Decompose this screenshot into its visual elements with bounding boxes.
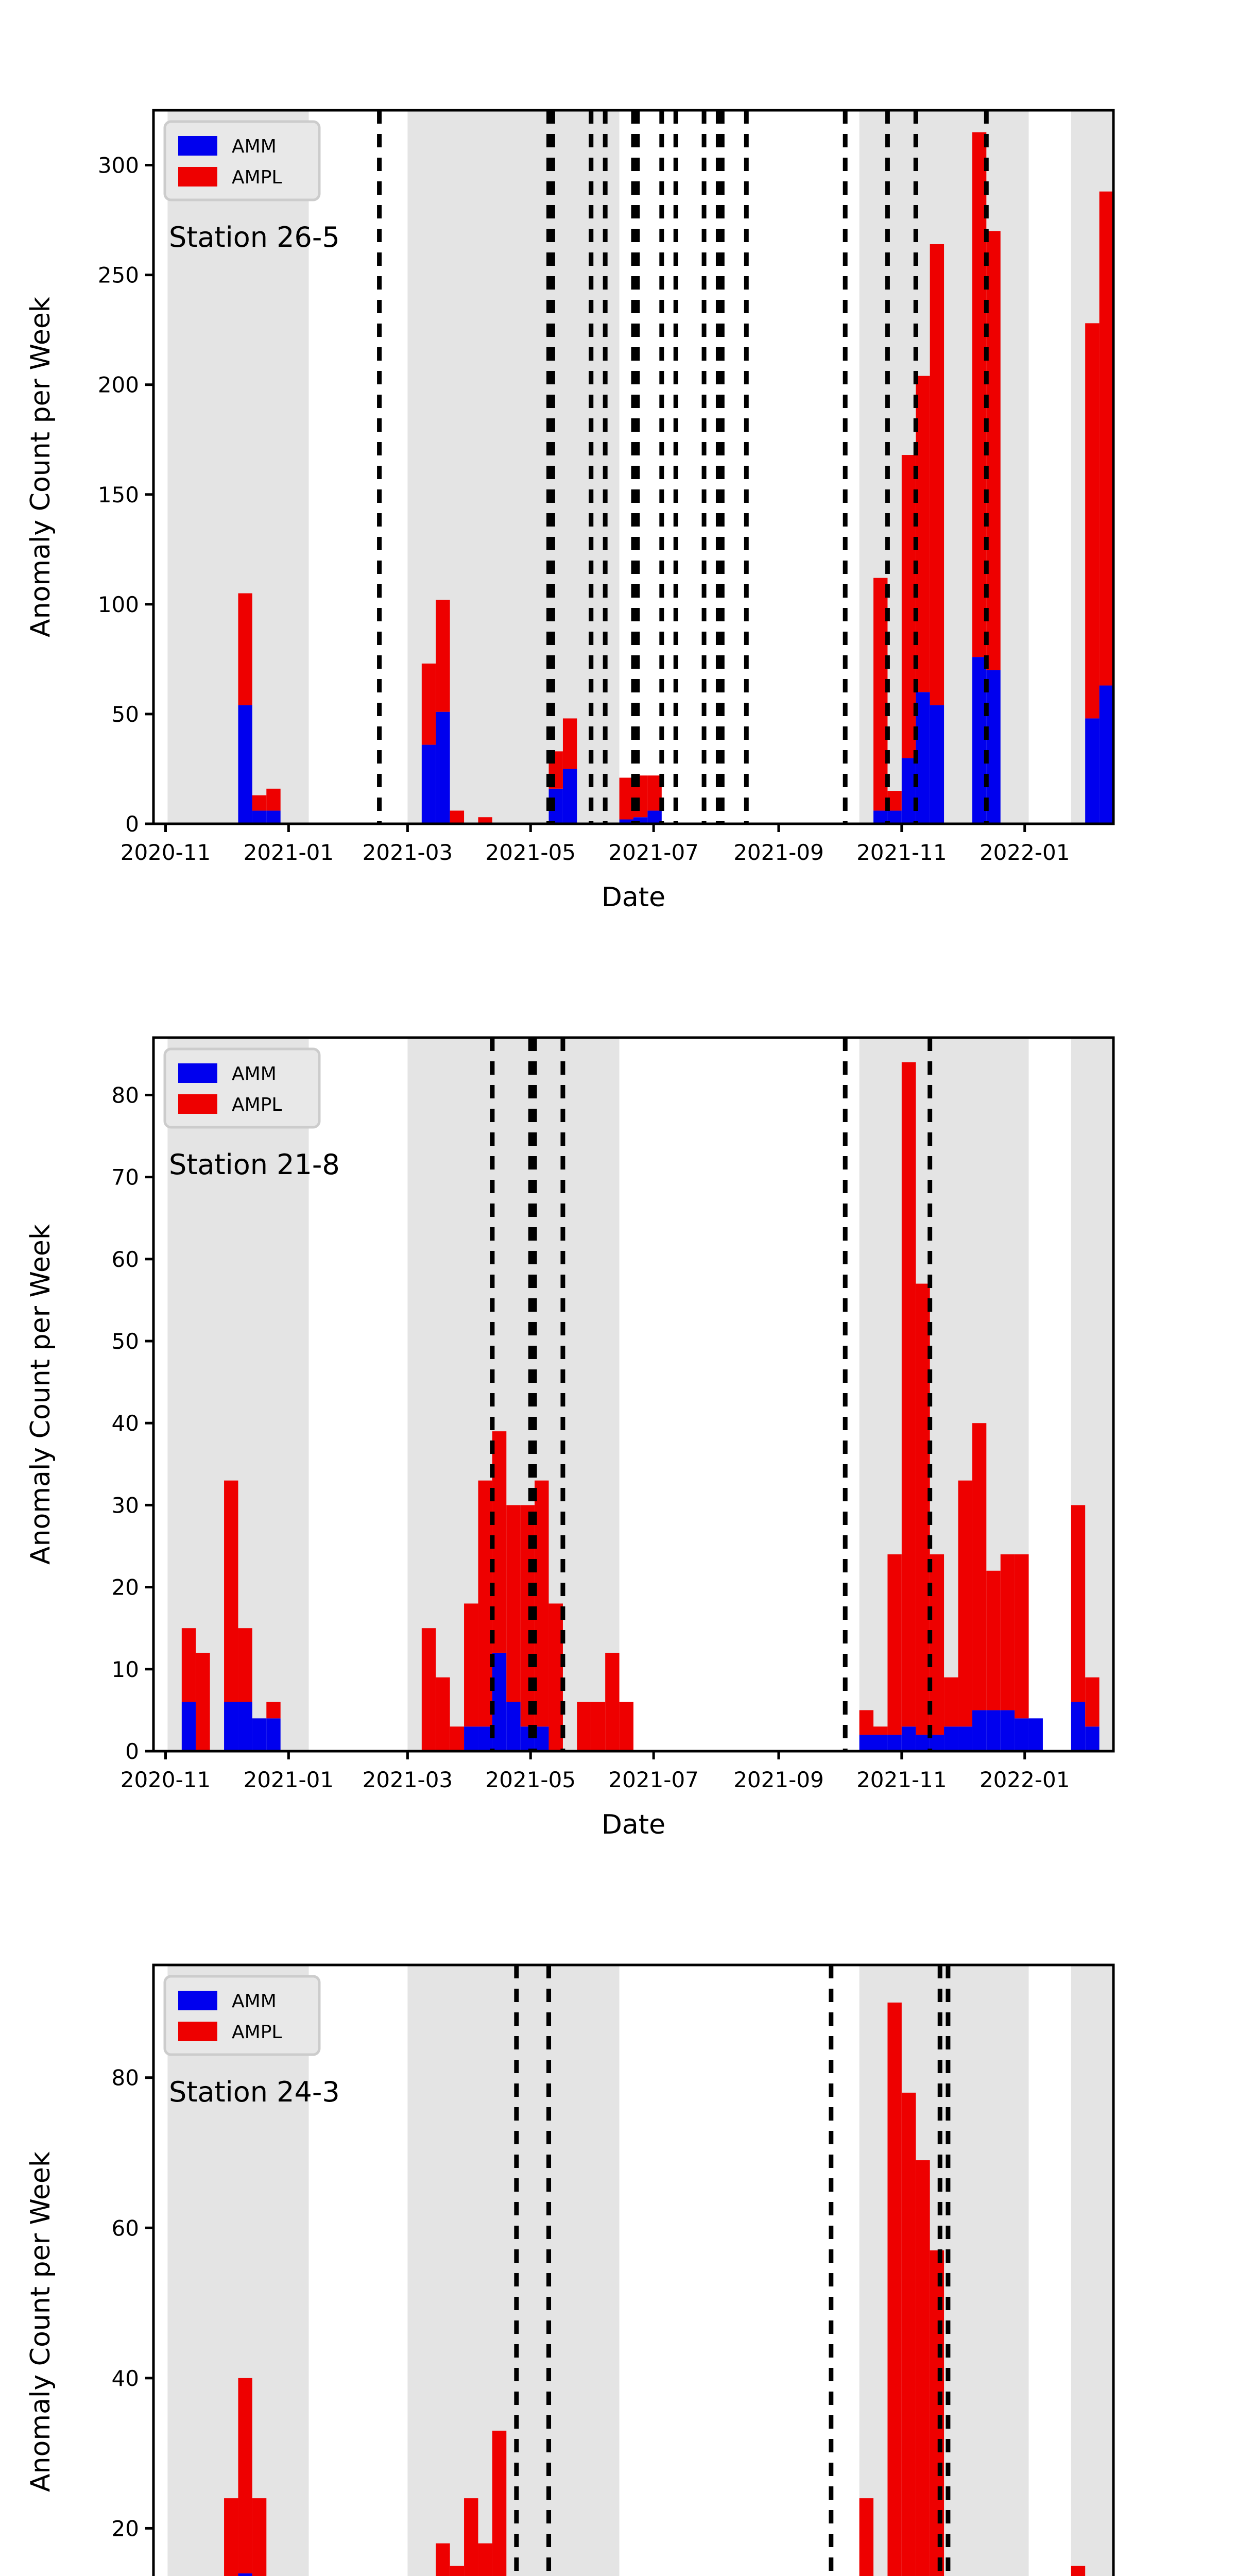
y-tick-label: 60 (112, 1247, 139, 1272)
station-label: Station 21-8 (169, 1148, 340, 1181)
legend-box[interactable] (165, 1049, 319, 1127)
legend-swatch-amm (178, 1991, 217, 2010)
legend-label-amm: AMM (232, 1063, 277, 1084)
x-tick-label: 2020-11 (121, 840, 211, 865)
bar-ampl (224, 2498, 238, 2576)
figure-root: 0501001502002503002020-112021-012021-032… (0, 0, 1236, 2576)
x-tick-label: 2020-11 (121, 1767, 211, 1792)
bar-amm (930, 705, 944, 824)
bar-ampl (464, 1603, 478, 1726)
shaded-span (1071, 1965, 1113, 2576)
bar-ampl (1100, 192, 1113, 686)
bar-ampl (1071, 1505, 1085, 1702)
y-axis-title: Anomaly Count per Week (25, 297, 56, 637)
bar-ampl (916, 2160, 930, 2576)
y-tick-label: 0 (125, 811, 139, 837)
bar-ampl (182, 1628, 196, 1702)
bar-ampl (436, 2544, 450, 2576)
bar-ampl (944, 1677, 958, 1727)
bar-amm (873, 1735, 887, 1751)
bar-amm (224, 1702, 238, 1751)
bar-ampl (860, 1710, 873, 1735)
y-tick-label: 20 (112, 1575, 139, 1600)
bar-ampl (591, 1702, 605, 1751)
y-tick-label: 300 (98, 153, 139, 178)
bar-amm (563, 769, 577, 824)
bar-ampl (1085, 1677, 1099, 1727)
x-axis-title: Date (602, 882, 665, 913)
bar-ampl (1015, 1554, 1028, 1718)
bar-amm (464, 1726, 478, 1751)
bar-ampl (436, 600, 450, 711)
y-tick-label: 100 (98, 592, 139, 617)
bar-ampl (464, 2498, 478, 2576)
bar-amm (972, 1710, 986, 1751)
legend-box[interactable] (165, 122, 319, 200)
chart-svg: 0501001502002503002020-112021-012021-032… (0, 0, 1236, 927)
bar-ampl (605, 1653, 619, 1751)
bar-amm (252, 810, 266, 824)
y-tick-label: 70 (112, 1165, 139, 1190)
legend-label-ampl: AMPL (232, 2022, 282, 2043)
y-tick-label: 80 (112, 1082, 139, 1108)
chart-panel-station-21-8: 010203040506070802020-112021-012021-0320… (0, 927, 1236, 1855)
y-tick-label: 200 (98, 372, 139, 398)
x-tick-label: 2021-01 (244, 1767, 334, 1792)
bar-amm (422, 745, 436, 824)
bar-ampl (224, 1481, 238, 1702)
bar-amm (887, 1735, 901, 1751)
bar-amm (1085, 718, 1099, 824)
shaded-span (407, 1965, 619, 2576)
chart-svg: 010203040506070802020-112021-012021-0320… (0, 927, 1236, 1855)
x-tick-label: 2021-03 (363, 1767, 453, 1792)
bar-ampl (902, 2093, 916, 2576)
bar-ampl (266, 789, 280, 811)
bar-ampl (873, 1726, 887, 1735)
station-label: Station 24-3 (169, 2076, 340, 2108)
y-axis-title: Anomaly Count per Week (25, 2151, 56, 2492)
bar-amm (1029, 1718, 1043, 1751)
bar-ampl (1071, 2566, 1085, 2576)
bar-ampl (958, 1481, 972, 1727)
legend-label-ampl: AMPL (232, 167, 282, 188)
bar-amm (238, 1702, 252, 1751)
bar-ampl (620, 1702, 633, 1751)
y-tick-label: 60 (112, 2215, 139, 2241)
bar-ampl (252, 2498, 266, 2576)
bar-ampl (986, 1571, 1000, 1710)
bar-amm (958, 1726, 972, 1751)
y-tick-label: 150 (98, 482, 139, 507)
bar-ampl (450, 810, 464, 824)
bar-ampl (972, 1423, 986, 1710)
legend-label-amm: AMM (232, 1991, 277, 2012)
y-tick-label: 10 (112, 1657, 139, 1682)
bar-ampl (887, 1554, 901, 1735)
bar-ampl (196, 1653, 210, 1751)
bar-ampl (1001, 1554, 1015, 1710)
bar-amm (182, 1702, 196, 1751)
legend-swatch-ampl (178, 2022, 217, 2041)
x-tick-label: 2021-07 (608, 1767, 699, 1792)
x-tick-label: 2021-09 (733, 840, 824, 865)
bar-ampl (1085, 323, 1099, 718)
y-tick-label: 0 (125, 1739, 139, 1764)
bar-ampl (887, 2003, 901, 2576)
bar-amm (266, 810, 280, 824)
legend-box[interactable] (165, 1976, 319, 2055)
bar-ampl (422, 1628, 436, 1751)
x-tick-label: 2021-11 (856, 840, 947, 865)
bar-ampl (860, 2498, 873, 2576)
bar-ampl (450, 1726, 464, 1751)
bar-amm (1015, 1718, 1028, 1751)
bar-ampl (492, 2431, 506, 2576)
y-tick-label: 250 (98, 263, 139, 288)
legend-label-amm: AMM (232, 136, 277, 157)
y-axis-title: Anomaly Count per Week (25, 1224, 56, 1565)
bar-ampl (266, 1702, 280, 1718)
legend-swatch-ampl (178, 167, 217, 187)
bar-ampl (238, 2378, 252, 2573)
y-tick-label: 30 (112, 1493, 139, 1518)
bar-ampl (436, 1677, 450, 1751)
x-tick-label: 2021-01 (244, 840, 334, 865)
x-tick-label: 2021-05 (486, 1767, 576, 1792)
bar-ampl (238, 594, 252, 705)
bar-ampl (902, 1062, 916, 1726)
bar-ampl (252, 795, 266, 811)
bar-ampl (930, 244, 944, 705)
x-tick-label: 2021-05 (486, 840, 576, 865)
legend-swatch-ampl (178, 1094, 217, 1114)
x-axis-title: Date (602, 1809, 665, 1840)
legend-swatch-amm (178, 1063, 217, 1083)
x-tick-label: 2021-09 (733, 1767, 824, 1792)
y-tick-label: 20 (112, 2516, 139, 2541)
chart-panel-station-24-3: 0204060802020-112021-012021-032021-05202… (0, 1855, 1236, 2576)
bar-amm (506, 1702, 520, 1751)
bar-ampl (577, 1702, 591, 1751)
bar-amm (1085, 1726, 1099, 1751)
x-tick-label: 2022-01 (980, 1767, 1070, 1792)
bar-amm (266, 1718, 280, 1751)
bar-amm (902, 1726, 916, 1751)
bar-amm (238, 705, 252, 824)
bar-ampl (563, 718, 577, 769)
y-tick-label: 80 (112, 2065, 139, 2091)
bar-ampl (238, 1628, 252, 1702)
y-tick-label: 50 (112, 1329, 139, 1354)
x-tick-label: 2021-11 (856, 1767, 947, 1792)
bar-amm (944, 1726, 958, 1751)
bar-amm (1071, 1702, 1085, 1751)
legend-label-ampl: AMPL (232, 1094, 282, 1115)
chart-panel-station-26-5: 0501001502002503002020-112021-012021-032… (0, 0, 1236, 927)
y-tick-label: 40 (112, 2366, 139, 2391)
bar-amm (252, 1718, 266, 1751)
bar-ampl (422, 664, 436, 745)
bar-ampl (450, 2566, 464, 2576)
station-label: Station 26-5 (169, 221, 340, 253)
x-tick-label: 2022-01 (980, 840, 1070, 865)
y-tick-label: 50 (112, 702, 139, 727)
bar-ampl (506, 1505, 520, 1702)
bar-ampl (478, 2544, 492, 2576)
bar-amm (1001, 1710, 1015, 1751)
bar-amm (860, 1735, 873, 1751)
legend-swatch-amm (178, 136, 217, 156)
x-tick-label: 2021-03 (363, 840, 453, 865)
chart-svg: 0204060802020-112021-012021-032021-05202… (0, 1855, 1236, 2576)
y-tick-label: 40 (112, 1411, 139, 1436)
bar-amm (238, 2573, 252, 2576)
bar-amm (986, 1710, 1000, 1751)
bar-amm (902, 758, 916, 824)
bar-amm (1100, 686, 1113, 824)
bar-amm (436, 712, 450, 824)
x-tick-label: 2021-07 (608, 840, 699, 865)
